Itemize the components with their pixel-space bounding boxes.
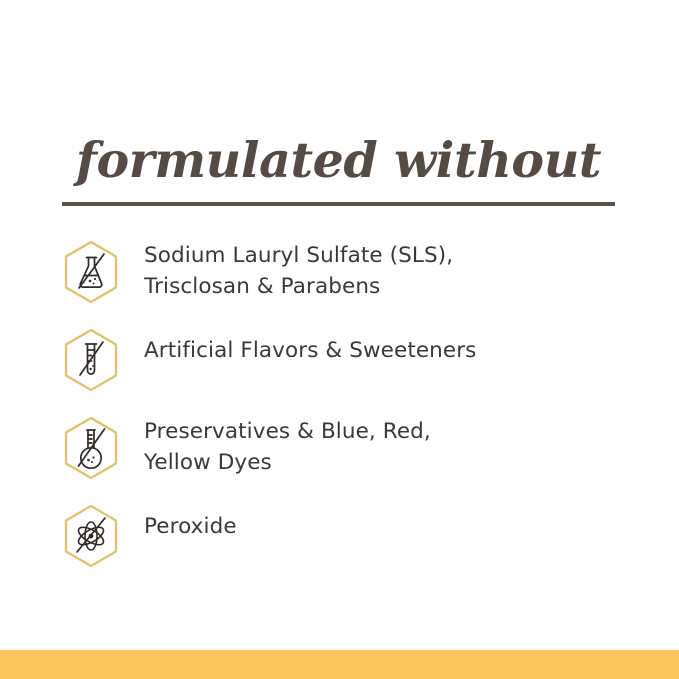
- title-divider: [62, 202, 615, 206]
- list-item-label: Preservatives & Blue, Red, Yellow Dyes: [144, 414, 627, 478]
- claims-list: Sodium Lauryl Sulfate (SLS), Trisclosan …: [57, 238, 627, 570]
- page-title: formulated without: [62, 136, 615, 186]
- list-item-line: Yellow Dyes: [144, 450, 272, 475]
- list-item-line: Preservatives & Blue, Red,: [144, 419, 431, 444]
- no-test-tube-hexagon-icon: [57, 326, 125, 394]
- list-item-label: Peroxide: [144, 502, 627, 543]
- list-item-line: Peroxide: [144, 514, 237, 539]
- list-item: Preservatives & Blue, Red, Yellow Dyes: [57, 414, 627, 482]
- no-round-bottom-flask-hexagon-icon: [57, 414, 125, 482]
- list-item-label: Sodium Lauryl Sulfate (SLS), Trisclosan …: [144, 238, 627, 302]
- no-atom-hexagon-icon: [57, 502, 125, 570]
- list-item: Peroxide: [57, 502, 627, 570]
- list-item-line: Sodium Lauryl Sulfate (SLS),: [144, 243, 453, 268]
- list-item-line: Trisclosan & Parabens: [144, 274, 380, 299]
- list-item-label: Artificial Flavors & Sweeteners: [144, 326, 627, 367]
- no-erlenmeyer-flask-hexagon-icon: [57, 238, 125, 306]
- title-block: formulated without: [62, 136, 615, 206]
- list-item: Artificial Flavors & Sweeteners: [57, 326, 627, 394]
- list-item-line: Artificial Flavors & Sweeteners: [144, 338, 476, 363]
- list-item: Sodium Lauryl Sulfate (SLS), Trisclosan …: [57, 238, 627, 306]
- bottom-accent-band: [0, 650, 679, 679]
- formulated-without-panel: formulated without Sodium: [0, 0, 679, 679]
